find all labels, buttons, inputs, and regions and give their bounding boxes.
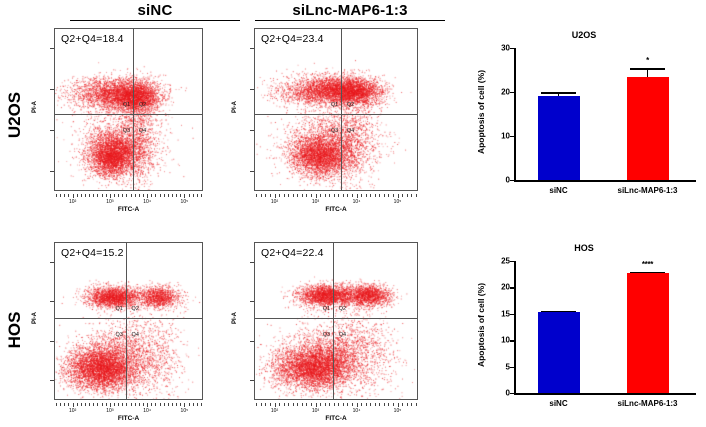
bar-sinc[interactable]: [538, 96, 580, 180]
flow-x-tick-mark: [126, 403, 127, 406]
flow-x-tick-mark: [114, 194, 115, 197]
flow-x-tick-mark: [151, 403, 152, 406]
flow-x-tick-mark: [135, 403, 136, 406]
flow-x-tick-mark: [147, 403, 148, 407]
bar-chart-y-tick-label: 15: [488, 309, 510, 318]
column-header-silnc-rule: [255, 20, 445, 21]
flow-x-tick-mark: [85, 194, 86, 197]
flow-x-tick-mark: [379, 194, 380, 197]
flow-x-tick-mark: [284, 194, 285, 197]
flow-quadrant-label-q3: Q3: [123, 128, 130, 134]
flow-panel-u2os-sinc: PI-A10²10³10⁴10⁵Q1Q2Q3Q4Q2+Q4=18.410²10³…: [28, 26, 203, 213]
flow-x-tick-mark: [201, 403, 202, 406]
flow-x-tick-mark: [131, 403, 132, 406]
flow-quadrant-vertical-line: [126, 243, 127, 399]
flow-quadrant-horizontal-line: [255, 114, 417, 115]
flow-x-tick-mark: [297, 403, 298, 406]
flow-quadrant-label-q3: Q3: [331, 128, 338, 134]
flow-x-tick-mark: [135, 194, 136, 197]
flow-x-tick-mark: [89, 403, 90, 406]
flow-x-tick-mark: [275, 403, 276, 407]
bar-chart-x-axis-line: [514, 393, 696, 395]
flow-x-tick-label: 10⁴: [353, 199, 361, 205]
flow-x-tick-label: 10³: [312, 408, 319, 414]
flow-x-tick-mark: [97, 403, 98, 406]
flow-x-tick-mark: [106, 194, 107, 197]
flow-x-tick-mark: [64, 194, 65, 197]
bar-chart-x-category-label: siLnc-MAP6-1:3: [617, 399, 677, 408]
flow-x-tick-mark: [102, 194, 103, 197]
flow-x-tick-label: 10⁵: [181, 199, 189, 205]
bar-chart-hos: HOSApoptosis of cell (%)****0510152025si…: [468, 243, 700, 423]
flow-x-tick-mark: [379, 403, 380, 406]
flow-x-tick-mark: [316, 194, 317, 198]
flow-x-tick-mark: [325, 403, 326, 406]
bar-chart-x-axis-line: [514, 180, 696, 182]
bar-chart-y-tick-mark: [510, 314, 514, 315]
flow-x-tick-mark: [139, 403, 140, 406]
significance-marker: *: [646, 56, 649, 65]
flow-x-tick-mark: [114, 403, 115, 406]
flow-x-tick-mark: [193, 194, 194, 197]
flow-x-tick-mark: [81, 194, 82, 197]
flow-x-tick-mark: [361, 194, 362, 197]
bar-chart-y-tick-mark: [510, 261, 514, 262]
flow-quadrant-horizontal-line: [55, 114, 202, 115]
flow-x-tick-mark: [189, 194, 190, 197]
flow-x-tick-label: 10³: [106, 199, 113, 205]
flow-x-tick-label: 10²: [271, 199, 278, 205]
flow-x-tick-mark: [370, 403, 371, 406]
flow-quadrant-label-q1: Q1: [116, 306, 123, 312]
flow-x-tick-mark: [261, 194, 262, 197]
flow-x-tick-mark: [306, 194, 307, 197]
flow-x-tick-mark: [338, 403, 339, 406]
flow-x-tick-mark: [168, 194, 169, 197]
bar-sinc[interactable]: [538, 312, 580, 393]
error-bar-cap: [541, 92, 576, 94]
flow-x-tick-mark: [416, 403, 417, 406]
flow-x-tick-row: 10²10³10⁴10⁵: [54, 196, 203, 204]
flow-x-tick-mark: [279, 403, 280, 406]
flow-x-tick-mark: [64, 403, 65, 406]
column-header-sinc-rule: [70, 20, 240, 21]
flow-x-tick-mark: [197, 403, 198, 406]
flow-x-tick-mark: [197, 194, 198, 197]
bar-chart-y-axis-label: Apoptosis of cell (%): [476, 57, 486, 167]
flow-x-tick-mark: [416, 194, 417, 197]
flow-x-tick-label: 10⁵: [181, 408, 189, 414]
flow-x-tick-mark: [402, 194, 403, 197]
bar-chart-x-category-label: siNC: [549, 186, 567, 195]
flow-x-tick-mark: [68, 403, 69, 406]
flow-x-tick-mark: [143, 194, 144, 197]
flow-x-tick-mark: [311, 403, 312, 406]
flow-scatter-canvas: [255, 243, 417, 399]
flow-x-tick-mark: [193, 403, 194, 406]
flow-x-tick-mark: [311, 194, 312, 197]
flow-x-tick-mark: [110, 194, 111, 198]
flow-x-tick-mark: [338, 194, 339, 197]
bar-chart-y-tick-mark: [510, 367, 514, 368]
flow-quadrant-vertical-line: [333, 243, 334, 399]
flow-x-tick-mark: [139, 194, 140, 197]
flow-x-tick-mark: [393, 403, 394, 406]
flow-x-tick-mark: [73, 194, 74, 198]
bar-chart-y-axis-line: [514, 48, 516, 180]
flow-x-tick-mark: [184, 403, 185, 407]
flow-quadrant-label-q3: Q3: [323, 332, 330, 338]
flow-x-tick-mark: [122, 194, 123, 197]
bar-chart-u2os: U2OSApoptosis of cell (%)*0102030siNCsiL…: [468, 30, 700, 210]
flow-x-tick-mark: [288, 403, 289, 406]
flow-x-tick-mark: [388, 194, 389, 197]
bar-chart-y-tick-mark: [510, 136, 514, 137]
bar-chart-y-tick-mark: [510, 92, 514, 93]
column-header-silnc-label: siLnc-MAP6-1:3: [255, 2, 445, 19]
flow-x-tick-mark: [176, 403, 177, 406]
flow-x-tick-mark: [411, 194, 412, 197]
flow-quadrant-label-q1: Q1: [123, 102, 130, 108]
flow-x-tick-mark: [102, 403, 103, 406]
flow-quadrant-label-q2: Q2: [347, 102, 354, 108]
flow-x-tick-mark: [60, 194, 61, 197]
flow-x-tick-label: 10³: [106, 408, 113, 414]
flow-x-tick-mark: [106, 403, 107, 406]
flow-scatter-canvas: [55, 29, 202, 190]
flow-x-tick-mark: [320, 194, 321, 197]
flow-x-tick-mark: [118, 403, 119, 406]
flow-x-tick-mark: [288, 194, 289, 197]
bar-chart-y-tick-label: 10: [488, 132, 510, 141]
flow-x-tick-mark: [256, 403, 257, 406]
flow-x-tick-mark: [352, 194, 353, 197]
flow-x-tick-mark: [164, 194, 165, 197]
flow-x-tick-mark: [398, 403, 399, 407]
flow-x-tick-mark: [265, 194, 266, 197]
flow-plot-area[interactable]: Q1Q2Q3Q4Q2+Q4=15.2: [54, 242, 203, 400]
flow-stat-label: Q2+Q4=22.4: [261, 247, 324, 259]
flow-x-tick-mark: [56, 403, 57, 406]
flow-stat-label: Q2+Q4=15.2: [61, 247, 124, 259]
flow-x-tick-mark: [375, 403, 376, 406]
bar-chart-y-tick-mark: [510, 180, 514, 181]
figure-root: siNC siLnc-MAP6-1:3 U2OS HOS PI-A10²10³1…: [0, 0, 706, 427]
flow-x-tick-mark: [275, 194, 276, 198]
flow-x-tick-mark: [384, 194, 385, 197]
bar-chart-y-tick-label: 5: [488, 362, 510, 371]
bar-chart-plot-area: ****: [514, 261, 692, 393]
flow-x-axis-label: FITC-A: [54, 415, 203, 422]
flow-quadrant-label-q2: Q2: [132, 306, 139, 312]
flow-y-axis-label: PI-A: [32, 92, 38, 122]
flow-quadrant-label-q1: Q1: [331, 102, 338, 108]
flow-quadrant-label-q2: Q2: [339, 306, 346, 312]
flow-x-tick-label: 10²: [69, 199, 76, 205]
bar-chart-y-axis-label: Apoptosis of cell (%): [476, 270, 486, 380]
flow-x-tick-mark: [189, 403, 190, 406]
flow-plot-area[interactable]: Q1Q2Q3Q4Q2+Q4=22.4: [254, 242, 418, 400]
column-header-sinc: siNC: [70, 2, 240, 21]
error-bar-cap: [630, 68, 665, 70]
flow-y-axis-label: PI-A: [232, 303, 238, 333]
flow-stat-label: Q2+Q4=18.4: [61, 33, 124, 45]
flow-x-tick-mark: [357, 403, 358, 407]
flow-scatter-canvas: [55, 243, 202, 399]
flow-x-tick-mark: [366, 403, 367, 406]
bar-chart-y-tick-label: 20: [488, 283, 510, 292]
bar-chart-title: U2OS: [468, 30, 700, 40]
flow-y-axis-label: PI-A: [232, 92, 238, 122]
flow-x-tick-mark: [89, 194, 90, 197]
bar-chart-y-tick-mark: [510, 393, 514, 394]
bar-chart-y-tick-label: 30: [488, 44, 510, 53]
flow-x-tick-mark: [366, 194, 367, 197]
flow-x-tick-mark: [402, 403, 403, 406]
flow-x-tick-mark: [293, 403, 294, 406]
flow-x-tick-mark: [73, 403, 74, 407]
flow-x-tick-mark: [180, 403, 181, 406]
bar-chart-plot-area: *: [514, 48, 692, 180]
flow-x-tick-mark: [407, 194, 408, 197]
flow-x-tick-mark: [334, 403, 335, 406]
flow-x-tick-mark: [151, 194, 152, 197]
flow-x-tick-mark: [97, 194, 98, 197]
flow-x-tick-mark: [329, 194, 330, 197]
flow-x-tick-mark: [85, 403, 86, 406]
flow-x-axis-label: FITC-A: [254, 415, 418, 422]
flow-x-tick-mark: [329, 403, 330, 406]
flow-x-tick-mark: [56, 194, 57, 197]
bar-chart-y-tick-label: 20: [488, 88, 510, 97]
flow-stat-label: Q2+Q4=23.4: [261, 33, 324, 45]
flow-x-tick-mark: [261, 403, 262, 406]
flow-quadrant-label-q4: Q4: [347, 128, 354, 134]
flow-x-tick-label: 10⁴: [143, 408, 151, 414]
flow-x-tick-mark: [180, 194, 181, 197]
flow-x-tick-mark: [357, 194, 358, 198]
flow-y-axis-label: PI-A: [32, 303, 38, 333]
flow-x-tick-mark: [370, 194, 371, 197]
flow-x-tick-mark: [302, 403, 303, 406]
bar-chart-title: HOS: [468, 243, 700, 253]
flow-x-tick-mark: [118, 194, 119, 197]
flow-x-tick-mark: [110, 403, 111, 407]
flow-x-tick-label: 10⁴: [143, 199, 151, 205]
bar-chart-y-tick-mark: [510, 287, 514, 288]
flow-quadrant-label-q3: Q3: [116, 332, 123, 338]
flow-x-tick-mark: [155, 403, 156, 406]
column-header-silnc: siLnc-MAP6-1:3: [255, 2, 445, 21]
flow-x-tick-mark: [302, 194, 303, 197]
flow-scatter-canvas: [255, 29, 417, 190]
flow-x-tick-label: 10⁴: [353, 408, 361, 414]
flow-x-tick-mark: [375, 194, 376, 197]
flow-x-tick-mark: [77, 403, 78, 406]
flow-x-tick-mark: [122, 403, 123, 406]
bar-chart-y-tick-label: 0: [488, 176, 510, 185]
flow-x-tick-mark: [384, 403, 385, 406]
flow-x-tick-mark: [343, 194, 344, 197]
flow-x-tick-mark: [126, 194, 127, 197]
flow-quadrant-vertical-line: [341, 29, 342, 190]
flow-x-tick-mark: [265, 403, 266, 406]
flow-x-tick-row: 10²10³10⁴10⁵: [254, 196, 418, 204]
flow-x-tick-mark: [60, 403, 61, 406]
flow-x-tick-mark: [306, 403, 307, 406]
flow-x-tick-mark: [343, 403, 344, 406]
flow-quadrant-label-q4: Q4: [339, 332, 346, 338]
column-header-sinc-label: siNC: [70, 2, 240, 19]
flow-x-tick-mark: [347, 403, 348, 406]
flow-x-tick-mark: [279, 194, 280, 197]
flow-quadrant-label-q4: Q4: [132, 332, 139, 338]
row-label-u2os: U2OS: [5, 85, 25, 145]
flow-plot-area[interactable]: Q1Q2Q3Q4Q2+Q4=18.4: [54, 28, 203, 191]
error-bar-cap: [630, 272, 665, 274]
flow-x-tick-label: 10²: [69, 408, 76, 414]
bar-chart-y-tick-label: 0: [488, 389, 510, 398]
flow-x-tick-mark: [293, 194, 294, 197]
flow-x-tick-row: 10²10³10⁴10⁵: [54, 405, 203, 413]
flow-x-tick-mark: [201, 194, 202, 197]
flow-x-tick-mark: [172, 194, 173, 197]
flow-x-tick-mark: [388, 403, 389, 406]
flow-x-tick-mark: [147, 194, 148, 198]
bar-chart-y-tick-label: 10: [488, 336, 510, 345]
bar-chart-x-category-label: siLnc-MAP6-1:3: [617, 186, 677, 195]
flow-x-tick-row: 10²10³10⁴10⁵: [254, 405, 418, 413]
flow-x-tick-mark: [168, 403, 169, 406]
flow-x-tick-mark: [347, 194, 348, 197]
flow-x-tick-mark: [155, 194, 156, 197]
flow-x-tick-mark: [398, 194, 399, 198]
flow-x-tick-mark: [184, 194, 185, 198]
flow-quadrant-label-q1: Q1: [323, 306, 330, 312]
flow-x-tick-mark: [172, 403, 173, 406]
flow-x-tick-mark: [316, 403, 317, 407]
flow-x-tick-mark: [68, 194, 69, 197]
flow-quadrant-label-q2: Q2: [139, 102, 146, 108]
flow-x-tick-mark: [270, 194, 271, 197]
flow-x-tick-mark: [407, 403, 408, 406]
bar-chart-y-axis-line: [514, 261, 516, 393]
bar-chart-y-tick-mark: [510, 340, 514, 341]
flow-x-axis-label: FITC-A: [254, 206, 418, 213]
flow-x-tick-mark: [320, 403, 321, 406]
flow-x-tick-mark: [352, 403, 353, 406]
flow-x-tick-mark: [297, 194, 298, 197]
flow-quadrant-label-q4: Q4: [139, 128, 146, 134]
flow-x-tick-mark: [325, 194, 326, 197]
flow-quadrant-vertical-line: [133, 29, 134, 190]
flow-x-tick-mark: [93, 194, 94, 197]
flow-x-tick-mark: [143, 403, 144, 406]
flow-x-tick-mark: [270, 403, 271, 406]
flow-quadrant-horizontal-line: [55, 318, 202, 319]
flow-x-tick-mark: [334, 194, 335, 197]
flow-x-tick-mark: [160, 403, 161, 406]
bar-chart-y-tick-mark: [510, 48, 514, 49]
significance-marker: ****: [642, 260, 653, 269]
flow-x-tick-label: 10³: [312, 199, 319, 205]
bar-silnc-map6-1-3[interactable]: [627, 77, 669, 180]
flow-x-tick-mark: [93, 403, 94, 406]
flow-x-tick-mark: [164, 403, 165, 406]
flow-x-tick-mark: [81, 403, 82, 406]
flow-x-tick-mark: [361, 403, 362, 406]
flow-x-tick-mark: [393, 194, 394, 197]
flow-x-tick-mark: [131, 194, 132, 197]
bar-silnc-map6-1-3[interactable]: [627, 273, 669, 393]
flow-x-tick-mark: [160, 194, 161, 197]
row-label-hos: HOS: [5, 300, 25, 360]
flow-plot-area[interactable]: Q1Q2Q3Q4Q2+Q4=23.4: [254, 28, 418, 191]
flow-x-tick-mark: [176, 194, 177, 197]
bar-chart-y-tick-label: 25: [488, 257, 510, 266]
flow-x-tick-label: 10⁵: [394, 199, 402, 205]
error-bar-cap: [541, 311, 576, 313]
flow-x-tick-mark: [256, 194, 257, 197]
flow-x-tick-label: 10²: [271, 408, 278, 414]
flow-quadrant-horizontal-line: [255, 318, 417, 319]
flow-x-tick-mark: [411, 403, 412, 406]
bar-chart-x-category-label: siNC: [549, 399, 567, 408]
flow-panel-u2os-silnc: PI-A10²10³10⁴10⁵Q1Q2Q3Q4Q2+Q4=23.410²10³…: [228, 26, 418, 213]
flow-panel-hos-silnc: PI-A10²10³10⁴10⁵Q1Q2Q3Q4Q2+Q4=22.410²10³…: [228, 240, 418, 422]
flow-x-tick-mark: [284, 403, 285, 406]
flow-panel-hos-sinc: PI-A10²10³10⁴10⁵Q1Q2Q3Q4Q2+Q4=15.210²10³…: [28, 240, 203, 422]
flow-x-axis-label: FITC-A: [54, 206, 203, 213]
flow-x-tick-mark: [77, 194, 78, 197]
flow-x-tick-label: 10⁵: [394, 408, 402, 414]
